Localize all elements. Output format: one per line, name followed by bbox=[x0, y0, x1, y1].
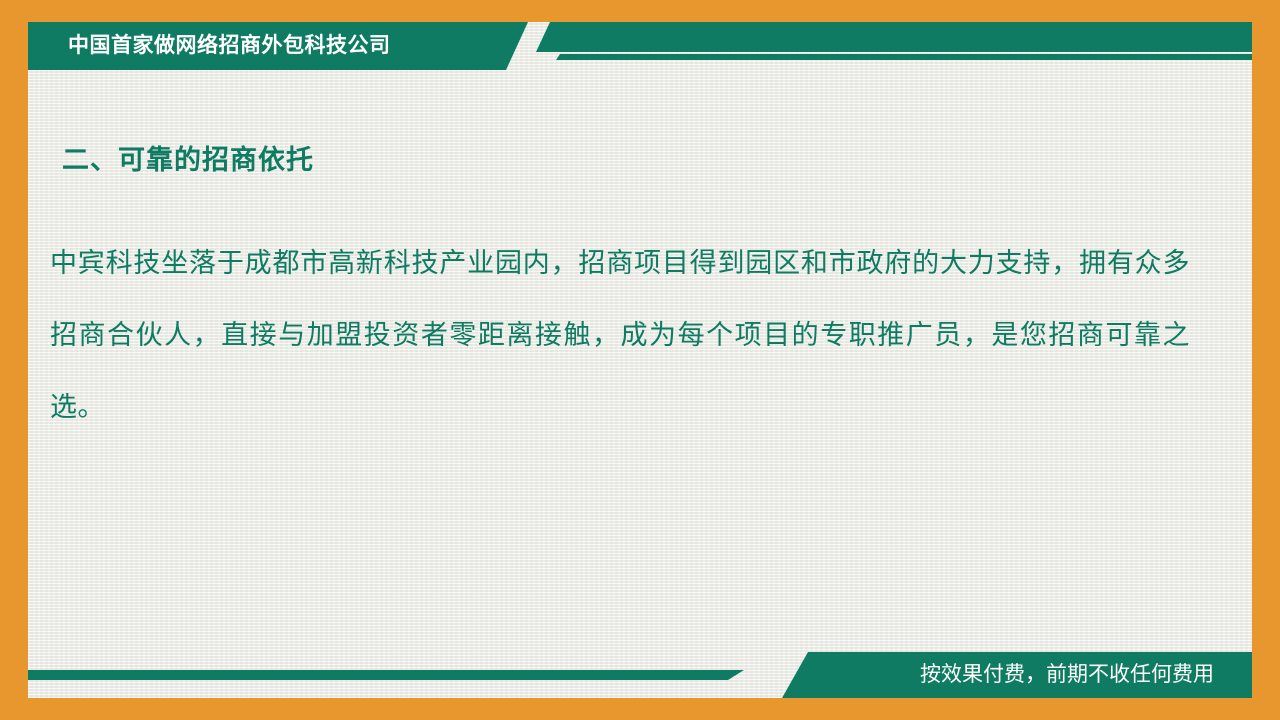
presentation-slide: 中国首家做网络招商外包科技公司 二、可靠的招商依托 中宾科技坐落于成都市高新科技… bbox=[0, 0, 1280, 720]
header-banner-shape-right bbox=[536, 22, 1252, 52]
header-title: 中国首家做网络招商外包科技公司 bbox=[68, 22, 391, 70]
section-title: 二、可靠的招商依托 bbox=[62, 138, 314, 177]
header-banner-accent-bar bbox=[556, 54, 1252, 60]
header-band: 中国首家做网络招商外包科技公司 bbox=[28, 22, 1252, 72]
footer-accent-bar bbox=[28, 670, 744, 680]
body-paragraph: 中宾科技坐落于成都市高新科技产业园内，招商项目得到园区和市政府的大力支持，拥有众… bbox=[50, 228, 1190, 444]
footer-tagline: 按效果付费，前期不收任何费用 bbox=[920, 652, 1214, 698]
footer-band: 按效果付费，前期不收任何费用 bbox=[28, 646, 1252, 698]
